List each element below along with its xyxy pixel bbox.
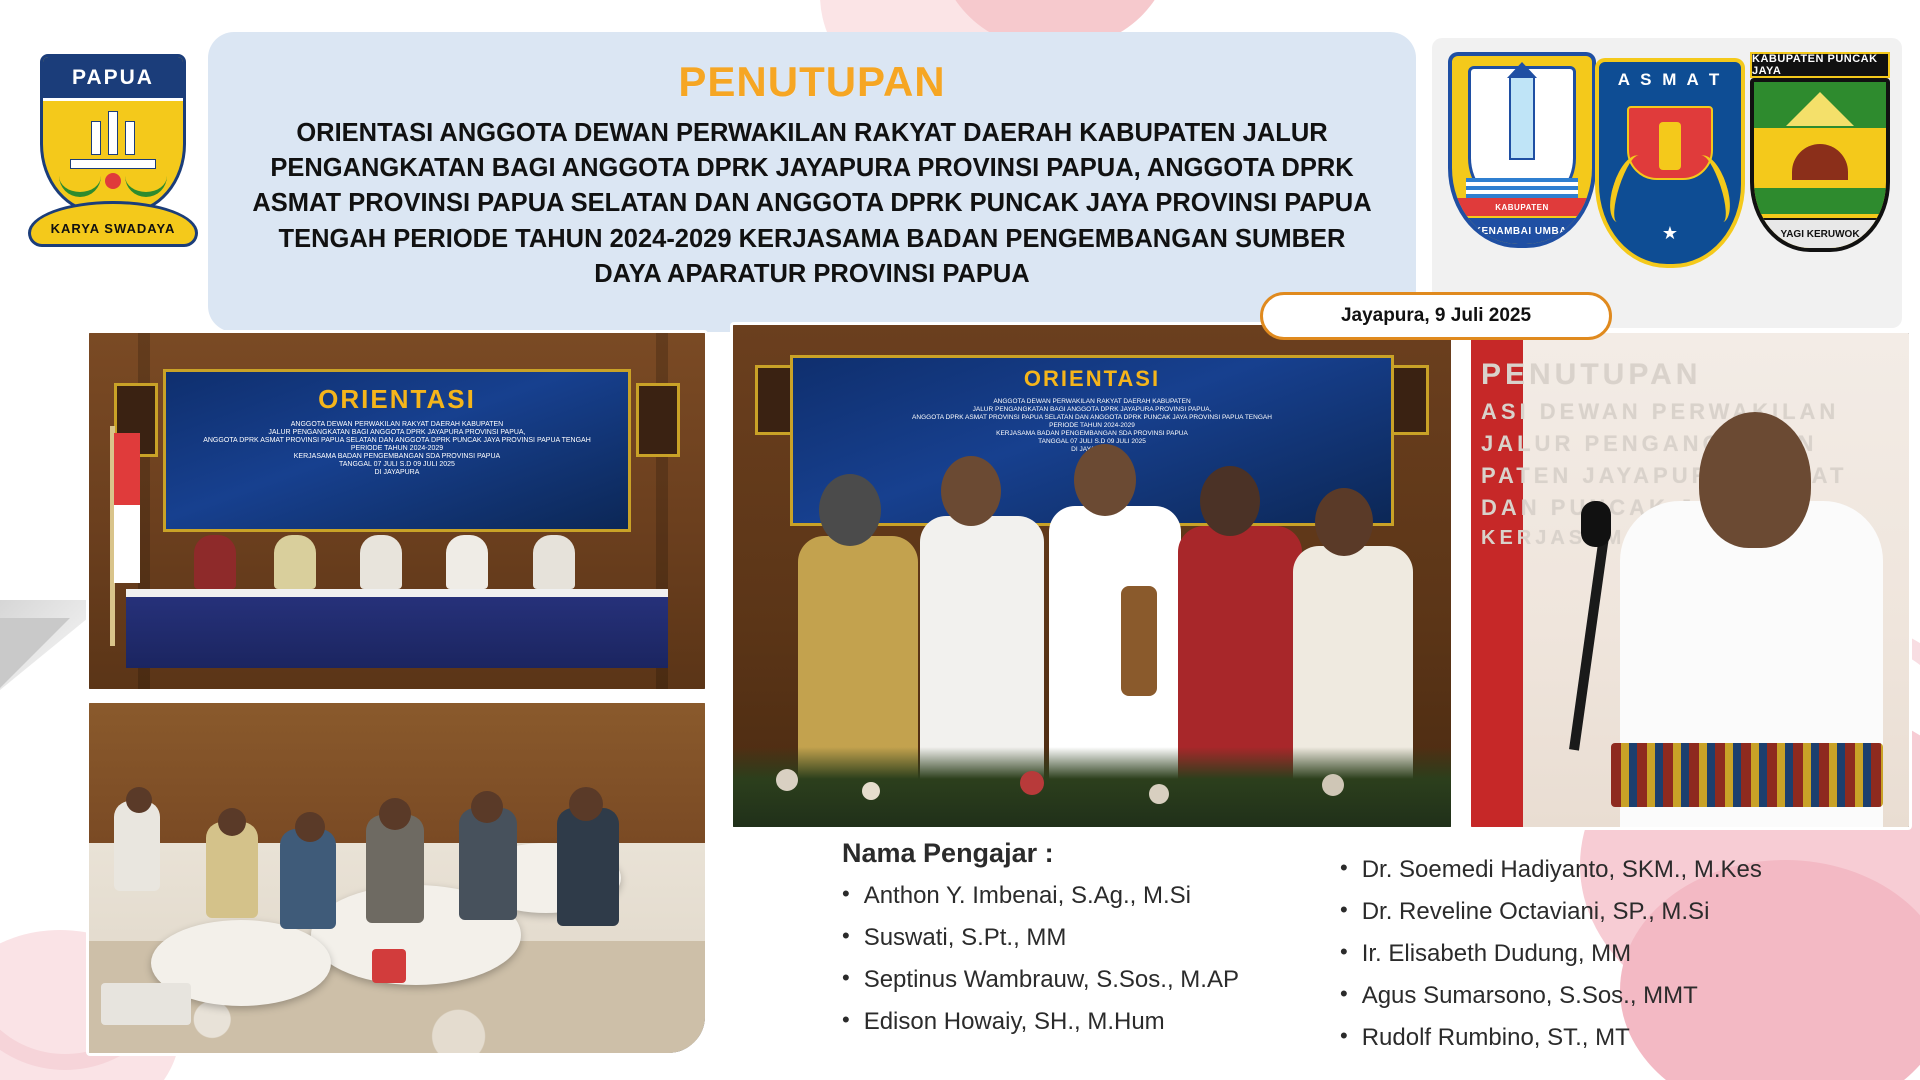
crest-puncak-jaya-field: [1754, 188, 1886, 214]
teachers-column-left: • Anthon Y. Imbenai, S.Ag., M.Si • Suswa…: [842, 882, 1362, 1050]
flower: [1149, 784, 1169, 804]
bullet-icon: •: [1340, 898, 1348, 922]
stage-banner-title: ORIENTASI: [166, 384, 628, 415]
crest-papua-name: PAPUA: [43, 57, 183, 101]
crest-jayapura-tower-icon: [1509, 76, 1535, 160]
flower: [1322, 774, 1344, 796]
crest-jayapura-band: KABUPATEN: [1452, 198, 1592, 216]
bullet-icon: •: [842, 882, 850, 906]
crest-jayapura-motto: KENAMBAI UMBAI: [1452, 218, 1592, 244]
crest-papua-leaf-right-icon: [125, 163, 167, 197]
teacher-name: Anthon Y. Imbenai, S.Ag., M.Si: [864, 882, 1191, 910]
tifa-drum: [1121, 586, 1157, 696]
stage-banner-lines: ANGGOTA DEWAN PERWAKILAN RAKYAT DAERAH K…: [166, 421, 628, 476]
seated-person: [446, 535, 488, 589]
attendee-head: [471, 791, 503, 823]
attendee: [366, 815, 424, 923]
teacher-item: • Suswati, S.Pt., MM: [842, 924, 1362, 952]
attendee: [206, 822, 258, 918]
header-banner: PENUTUPAN ORIENTASI ANGGOTA DEWAN PERWAK…: [208, 32, 1416, 332]
photo-audience: [86, 700, 708, 1056]
indonesia-flag-icon: [114, 433, 140, 583]
wall-frame-right: [636, 383, 680, 457]
teacher-name: Edison Howaiy, SH., M.Hum: [864, 1008, 1165, 1036]
teacher-item: • Ir. Elisabeth Dudung, MM: [1340, 940, 1880, 968]
seated-person: [274, 535, 316, 589]
seated-person: [360, 535, 402, 589]
stage-banner-line: DI JAYAPURA: [176, 469, 618, 476]
teacher-name: Agus Sumarsono, S.Sos., MMT: [1362, 982, 1698, 1010]
crest-jayapura: KABUPATEN KENAMBAI UMBAI: [1448, 52, 1596, 248]
bullet-icon: •: [1340, 856, 1348, 880]
crest-asmat-name: A S M A T: [1599, 70, 1741, 90]
teacher-item: • Dr. Soemedi Hadiyanto, SKM., M.Kes: [1340, 856, 1880, 884]
poster-page: PAPUA KARYA SWADAYA PENUTUPAN ORIENTASI …: [0, 0, 1920, 1080]
group-banner-line: JALUR PENGANGKATAN BAGI ANGGOTA DPRK JAY…: [805, 406, 1378, 413]
bullet-icon: •: [842, 966, 850, 990]
flower-arrangement: [733, 747, 1451, 827]
attendee: [557, 808, 619, 926]
speaker-head: [1699, 412, 1811, 548]
crest-papua: PAPUA KARYA SWADAYA: [28, 32, 198, 247]
crest-asmat-star-icon: ★: [1662, 223, 1678, 244]
group-banner-line: KERJASAMA BADAN PENGEMBANGAN SDA PROVINS…: [805, 430, 1378, 437]
backdrop-line: PENUTUPAN: [1481, 353, 1909, 397]
group-banner-line: TANGGAL 07 JULI S.D 09 JULI 2025: [805, 438, 1378, 445]
crest-asmat: A S M A T ★: [1595, 58, 1745, 268]
group-banner-line: PERIODE TAHUN 2024-2029: [805, 422, 1378, 429]
attendee: [114, 801, 160, 891]
backdrop-line: JALUR PENGANGKATAN: [1481, 428, 1909, 460]
teacher-item: • Agus Sumarsono, S.Sos., MMT: [1340, 982, 1880, 1010]
stage-banner-line: ANGGOTA DEWAN PERWAKILAN RAKYAT DAERAH K…: [176, 421, 618, 428]
microphone-icon: [1581, 501, 1611, 547]
date-badge: Jayapura, 9 Juli 2025: [1260, 292, 1612, 340]
standing-person-head: [1200, 466, 1260, 536]
teacher-name: Dr. Soemedi Hadiyanto, SKM., M.Kes: [1362, 856, 1762, 884]
attendee: [280, 829, 336, 929]
group-banner-title: ORIENTASI: [793, 366, 1390, 392]
wall-frame-left: [755, 365, 795, 435]
standing-person-head: [941, 456, 1001, 526]
teacher-name: Dr. Reveline Octaviani, SP., M.Si: [1362, 898, 1710, 926]
crest-puncak-jaya-header: KABUPATEN PUNCAK JAYA: [1750, 52, 1890, 78]
teachers-column-right: • Dr. Soemedi Hadiyanto, SKM., M.Kes • D…: [1340, 856, 1880, 1066]
bullet-icon: •: [1340, 940, 1348, 964]
standing-person-head: [819, 474, 881, 546]
crest-papua-shield: PAPUA: [40, 54, 186, 214]
crest-puncak-jaya-mountain-icon: [1786, 92, 1854, 126]
teacher-name: Septinus Wambrauw, S.Sos., M.AP: [864, 966, 1239, 994]
teacher-name: Suswati, S.Pt., MM: [864, 924, 1067, 952]
crest-papua-leaf-left-icon: [59, 163, 101, 197]
teachers-title: Nama Pengajar :: [842, 838, 1054, 869]
flower: [1020, 771, 1044, 795]
photo-head-table: ORIENTASI ANGGOTA DEWAN PERWAKILAN RAKYA…: [86, 330, 708, 692]
stage-banner-line: TANGGAL 07 JULI S.D 09 JULI 2025: [176, 461, 618, 468]
seated-person: [194, 535, 236, 589]
attendee-head: [295, 812, 325, 842]
crest-puncak-jaya-shield: YAGI KERUWOK: [1750, 78, 1890, 252]
crest-strip: KABUPATEN KENAMBAI UMBAI A S M A T ★ KAB…: [1432, 38, 1902, 328]
crest-puncak-jaya-motto: YAGI KERUWOK: [1754, 218, 1886, 248]
crest-jayapura-waves-icon: [1466, 178, 1578, 200]
teacher-item: • Dr. Reveline Octaviani, SP., M.Si: [1340, 898, 1880, 926]
teacher-item: • Edison Howaiy, SH., M.Hum: [842, 1008, 1362, 1036]
bullet-icon: •: [842, 1008, 850, 1032]
teacher-item: • Anthon Y. Imbenai, S.Ag., M.Si: [842, 882, 1362, 910]
standing-person-head: [1315, 488, 1373, 556]
crest-jayapura-shield: KABUPATEN KENAMBAI UMBAI: [1448, 52, 1596, 248]
crest-papua-flower-icon: [105, 173, 121, 189]
crest-papua-motto: KARYA SWADAYA: [28, 201, 198, 247]
flower: [776, 769, 798, 791]
red-bag: [372, 949, 406, 983]
teacher-name: Rudolf Rumbino, ST., MT: [1362, 1024, 1630, 1052]
wall-frame-right: [1389, 365, 1429, 435]
standing-person-head: [1074, 444, 1136, 516]
decor-gray-wedge-inner: [0, 618, 70, 688]
stage-banner-line: ANGGOTA DPRK ASMAT PROVINSI PAPUA SELATA…: [176, 437, 618, 444]
crest-puncak-jaya: KABUPATEN PUNCAK JAYA YAGI KERUWOK: [1750, 52, 1890, 252]
head-table: [126, 589, 668, 667]
crest-asmat-drum-icon: [1659, 122, 1681, 170]
projector: [101, 983, 191, 1025]
stage-banner: ORIENTASI ANGGOTA DEWAN PERWAKILAN RAKYA…: [163, 369, 631, 533]
crest-puncak-jaya-hut-icon: [1792, 144, 1848, 180]
teacher-name: Ir. Elisabeth Dudung, MM: [1362, 940, 1631, 968]
stage-banner-line: PERIODE TAHUN 2024-2029: [176, 445, 618, 452]
group-banner-line: ANGGOTA DEWAN PERWAKILAN RAKYAT DAERAH K…: [805, 398, 1378, 405]
bullet-icon: •: [1340, 1024, 1348, 1048]
teachers-section: Nama Pengajar : • Anthon Y. Imbenai, S.A…: [830, 838, 1920, 1068]
attendee: [459, 808, 517, 920]
photo-speaker: PENUTUPAN ASI DEWAN PERWAKILAN JALUR PEN…: [1468, 330, 1912, 830]
seated-person: [533, 535, 575, 589]
photo-group: ORIENTASI ANGGOTA DEWAN PERWAKILAN RAKYA…: [730, 322, 1454, 830]
group-banner-line: ANGGOTA DPRK ASMAT PROVINSI PAPUA SELATA…: [805, 414, 1378, 421]
teacher-item: • Septinus Wambrauw, S.Sos., M.AP: [842, 966, 1362, 994]
page-subtitle: ORIENTASI ANGGOTA DEWAN PERWAKILAN RAKYA…: [244, 116, 1380, 292]
crest-asmat-grain-right-icon: [1687, 151, 1737, 227]
podium-cloth: [1611, 743, 1883, 807]
group-banner-lines: ANGGOTA DEWAN PERWAKILAN RAKYAT DAERAH K…: [793, 398, 1390, 453]
flower: [862, 782, 880, 800]
backdrop-line: ASI DEWAN PERWAKILAN: [1481, 396, 1909, 428]
teacher-item: • Rudolf Rumbino, ST., MT: [1340, 1024, 1880, 1052]
bullet-icon: •: [842, 924, 850, 948]
bullet-icon: •: [1340, 982, 1348, 1006]
page-title: PENUTUPAN: [244, 58, 1380, 106]
stage-banner-line: KERJASAMA BADAN PENGEMBANGAN SDA PROVINS…: [176, 453, 618, 460]
stage-banner-line: JALUR PENGANGKATAN BAGI ANGGOTA DPRK JAY…: [176, 429, 618, 436]
attendee-head: [126, 787, 152, 813]
crest-papua-pillars-icon: [91, 111, 135, 155]
crest-asmat-shield: A S M A T ★: [1595, 58, 1745, 268]
backdrop-line: PATEN JAYAPURA, ASMAT: [1481, 460, 1909, 492]
attendee-head: [379, 798, 411, 830]
